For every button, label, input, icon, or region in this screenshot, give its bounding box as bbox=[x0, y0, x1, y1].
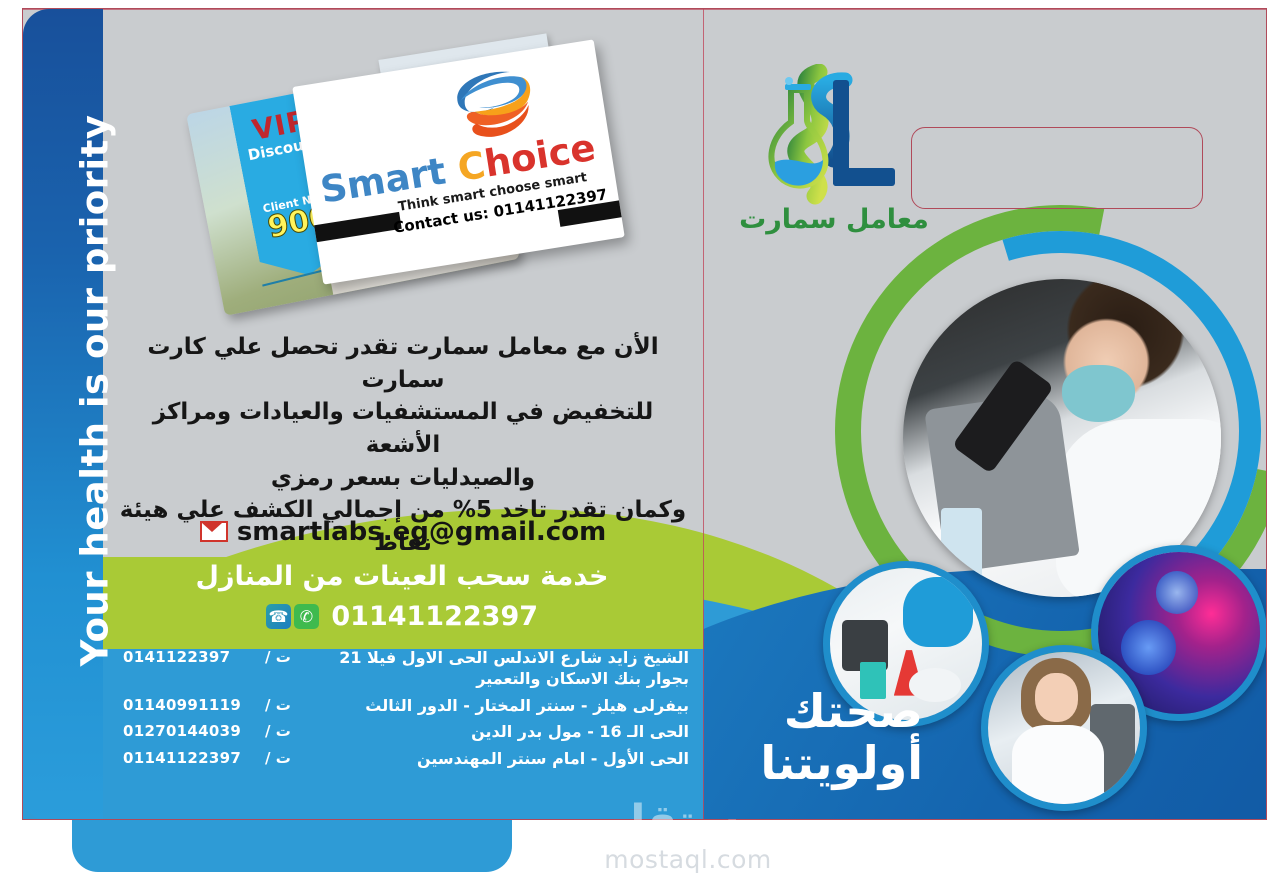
flyer-artwork: معامل سمارت VIP Discount Client No.: 900… bbox=[22, 8, 1267, 820]
face-shape bbox=[1035, 673, 1078, 722]
branch-tel[interactable]: 01141122397 bbox=[123, 749, 265, 767]
discount-cards-image: VIP Discount Client No.: 900 31/12/2017 bbox=[198, 44, 628, 314]
table-row: 0141122397 ت / الشيخ زايد شارع الاندلس ا… bbox=[101, 645, 703, 693]
card-black-bar-left bbox=[308, 212, 402, 243]
arabic-slogan-line-1: صحتك bbox=[723, 685, 923, 737]
watermark-latin: mostaql.com bbox=[538, 845, 838, 874]
home-sampling-phone[interactable]: 01141122397 bbox=[331, 601, 538, 632]
table-row: 01141122397 ت / الحى الأول - امام سنتر ا… bbox=[101, 746, 703, 773]
trim-guide-top bbox=[23, 9, 1266, 10]
branch-address: بيفرلى هيلز - سنتر المختار - الدور الثال… bbox=[295, 696, 689, 717]
whatsapp-icon[interactable]: ✆ bbox=[294, 604, 319, 629]
face-mask-shape bbox=[1062, 365, 1135, 422]
arabic-slogan-line-2: أولويتنا bbox=[723, 737, 923, 789]
smart-labs-flask-icon bbox=[749, 64, 919, 214]
promo-line-2: للتخفيض في المستشفيات والعيادات ومراكز ا… bbox=[113, 396, 693, 461]
gloved-hand-shape bbox=[903, 577, 973, 647]
cell-shape bbox=[1121, 620, 1176, 675]
red-placeholder-box[interactable] bbox=[911, 127, 1203, 209]
brand-logo-label: معامل سمارت bbox=[739, 204, 929, 235]
branch-address: الحى الـ 16 - مول بدر الدين bbox=[295, 722, 689, 743]
branch-list: 0141122397 ت / الشيخ زايد شارع الاندلس ا… bbox=[101, 645, 703, 773]
promo-body-text: الأن مع معامل سمارت تقدر تحصل علي كارت س… bbox=[113, 331, 693, 592]
side-tab-slogan: Your health is our priority bbox=[74, 11, 117, 771]
phone-glyph: ☎ bbox=[266, 604, 291, 629]
envelope-icon bbox=[200, 521, 228, 542]
promo-line-3: والصيدليات بسعر رمزي bbox=[113, 462, 693, 495]
brand-logo: معامل سمارت bbox=[749, 64, 919, 249]
cell-shape bbox=[1156, 571, 1198, 613]
phone-icon[interactable]: ☎ bbox=[266, 604, 291, 629]
table-row: 01140991119 ت / بيفرلى هيلز - سنتر المخت… bbox=[101, 693, 703, 720]
email-row[interactable]: smartlabs.eg@gmail.com bbox=[113, 517, 693, 547]
branch-tel-label: ت / bbox=[265, 722, 291, 740]
side-tab: Your health is our priority bbox=[23, 9, 103, 820]
mostaql-watermark: مستقل mostaql.com bbox=[538, 800, 838, 874]
promo-line-1: الأن مع معامل سمارت تقدر تحصل علي كارت س… bbox=[113, 331, 693, 396]
branch-address: الحى الأول - امام سنتر المهندسين bbox=[295, 749, 689, 770]
smart-choice-card: Smart Choice Think smart choose smart Co… bbox=[292, 39, 625, 284]
lab-coat-shape bbox=[1012, 725, 1103, 804]
fold-guide-vertical bbox=[703, 9, 704, 820]
photo-smiling-scientist bbox=[981, 645, 1147, 811]
branch-address: الشيخ زايد شارع الاندلس الحى الاول فيلا … bbox=[295, 648, 689, 690]
flyer-canvas: معامل سمارت VIP Discount Client No.: 900… bbox=[0, 0, 1280, 888]
email-address[interactable]: smartlabs.eg@gmail.com bbox=[237, 517, 606, 547]
branch-tel[interactable]: 01270144039 bbox=[123, 722, 265, 740]
branch-tel-label: ت / bbox=[265, 648, 291, 666]
whatsapp-glyph: ✆ bbox=[294, 604, 319, 629]
watermark-arabic: مستقل bbox=[538, 800, 838, 844]
arabic-slogan: صحتك أولويتنا bbox=[723, 685, 923, 790]
branch-tel-label: ت / bbox=[265, 749, 291, 767]
home-sampling-title: خدمة سحب العينات من المنازل bbox=[101, 561, 703, 592]
branch-tel[interactable]: 0141122397 bbox=[123, 648, 265, 666]
home-sampling-phone-row[interactable]: ☎✆ 01141122397 bbox=[101, 601, 703, 632]
branch-tel-label: ت / bbox=[265, 696, 291, 714]
table-row: 01270144039 ت / الحى الـ 16 - مول بدر ال… bbox=[101, 719, 703, 746]
branch-tel[interactable]: 01140991119 bbox=[123, 696, 265, 714]
